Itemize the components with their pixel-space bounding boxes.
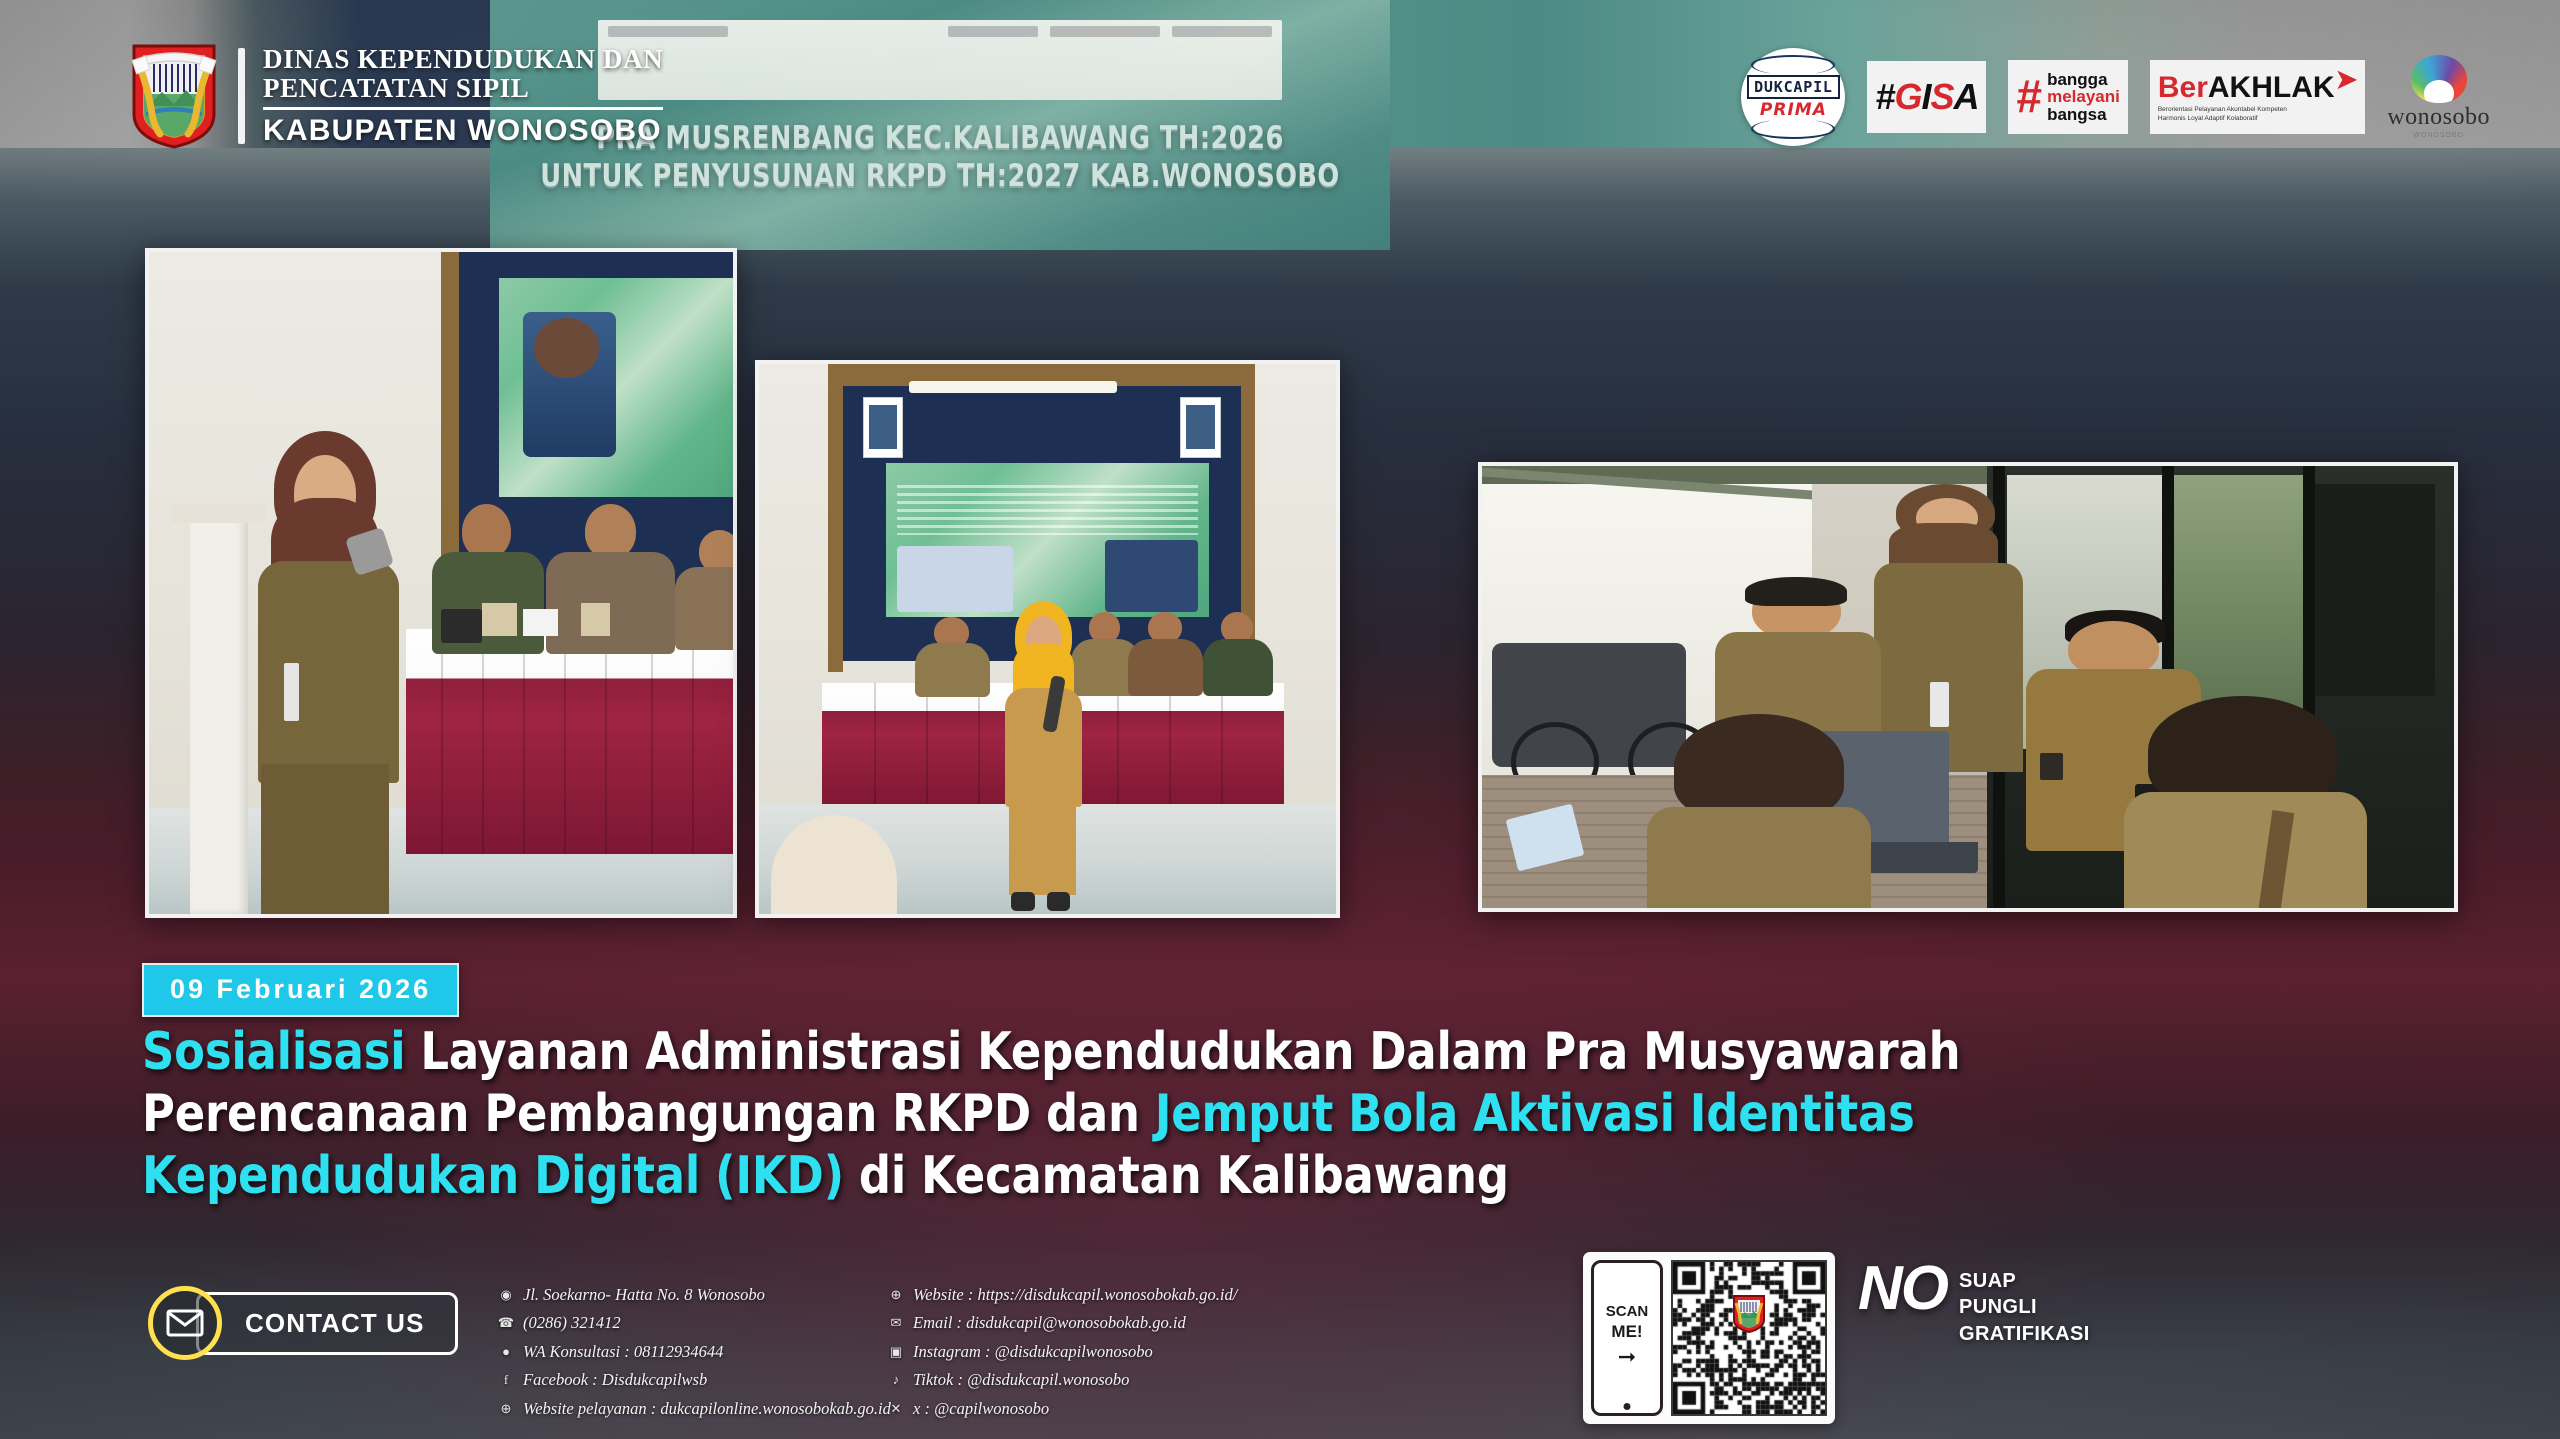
date-badge: 09 Februari 2026 <box>142 963 459 1017</box>
banner-line-2: UNTUK PENYUSUNAN RKPD TH:2027 KAB.WONOSO… <box>526 158 1354 196</box>
scan-me-qr-block[interactable]: SCAN ME! ➞ <box>1583 1252 1835 1424</box>
berakhlak-sub-2: Harmonis Loyal Adaptif Kolaboratif <box>2158 115 2258 123</box>
swoosh-icon: ➤ <box>2336 64 2358 95</box>
arrow-right-icon: ➞ <box>1618 1346 1636 1368</box>
headline-word: Digital <box>534 1146 700 1208</box>
x-twitter-icon: ✕ <box>888 1401 904 1417</box>
photo-ikd-activation-right <box>1478 462 2458 912</box>
envelope-icon <box>148 1286 222 1360</box>
wonosobo-tourism-logo: wonosobo WONOSOBO <box>2387 55 2490 139</box>
contact-line[interactable]: ●WA Konsultasi : 08112934644 <box>498 1338 891 1366</box>
headline-word: Jemput <box>1155 1084 1333 1146</box>
wonosobo-wordmark: wonosobo <box>2387 104 2490 131</box>
page-title: SosialisasiLayananAdministrasiKependuduk… <box>142 1022 2139 1208</box>
pungli-word-2: PUNGLI <box>1959 1294 2090 1320</box>
contact-line[interactable]: ⊕Website : https://disdukcapil.wonosobok… <box>888 1281 1237 1309</box>
headline-word: Kecamatan <box>921 1146 1201 1208</box>
gisa-wordmark: #GISA <box>1875 66 1978 128</box>
bmb-line-3: bangsa <box>2047 106 2120 124</box>
contact-text: x : @capilwonosobo <box>913 1395 1049 1423</box>
partner-logo-strip: DUKCAPIL PRIMA #GISA # bangga melayani b… <box>1741 48 2490 146</box>
contact-line[interactable]: ☎(0286) 321412 <box>498 1309 891 1337</box>
headline-word: Kependudukan <box>142 1146 519 1208</box>
berakhlak-sub-1: Berorientasi Pelayanan Akuntabel Kompete… <box>2158 106 2287 114</box>
headline-word: Pembangungan <box>484 1084 877 1146</box>
brand-text: DINAS KEPENDUDUKAN DAN PENCATATAN SIPIL … <box>263 45 663 147</box>
no-label: NO <box>1858 1262 1947 1315</box>
poster-canvas: PRA MUSRENBANG KEC.KALIBAWANG TH:2026 UN… <box>0 0 2560 1439</box>
brand-line-1: DINAS KEPENDUDUKAN DAN <box>263 45 663 74</box>
globe-icon: ⊕ <box>888 1287 904 1303</box>
headline-word: dan <box>1046 1084 1140 1146</box>
whatsapp-icon: ● <box>498 1344 514 1360</box>
contact-us-button[interactable]: CONTACT US <box>148 1286 458 1360</box>
contact-line[interactable]: ▣Instagram : @disdukcapilwonosobo <box>888 1338 1237 1366</box>
headline-word: RKPD <box>892 1084 1031 1146</box>
contact-text: Facebook : Disdukcapilwsb <box>523 1366 707 1394</box>
contact-line[interactable]: fFacebook : Disdukcapilwsb <box>498 1366 891 1394</box>
berakhlak-akhlak: AKHLAK <box>2208 71 2335 105</box>
contact-text: Email : disdukcapil@wonosobokab.go.id <box>913 1309 1186 1337</box>
photo-speaker-middle <box>755 360 1340 918</box>
headline-word: Perencanaan <box>142 1084 469 1146</box>
wonosobo-tagline: WONOSOBO <box>2413 132 2464 139</box>
brand-header: DINAS KEPENDUDUKAN DAN PENCATATAN SIPIL … <box>128 42 663 150</box>
headline-word: Layanan <box>420 1022 630 1084</box>
tiktok-icon: ♪ <box>888 1372 904 1388</box>
rainbow-mark-icon <box>2411 55 2467 103</box>
headline-word: Pra <box>1543 1022 1628 1084</box>
headline-word: Aktivasi <box>1473 1084 1675 1146</box>
contact-text: Tiktok : @disdukcapil.wonosobo <box>913 1366 1129 1394</box>
headline-word: Administrasi <box>645 1022 962 1084</box>
dukcapil-prima-logo: DUKCAPIL PRIMA <box>1741 48 1845 146</box>
headline-word: Identitas <box>1690 1084 1915 1146</box>
contact-text: Jl. Soekarno- Hatta No. 8 Wonosobo <box>523 1281 765 1309</box>
headline-word: Kalibawang <box>1216 1146 1508 1208</box>
headline-word: di <box>859 1146 906 1208</box>
banner-header-sheet <box>598 20 1282 100</box>
contact-line[interactable]: ◉Jl. Soekarno- Hatta No. 8 Wonosobo <box>498 1281 891 1309</box>
scan-line-2: ME! <box>1611 1323 1642 1340</box>
gisa-logo: #GISA <box>1867 61 1986 133</box>
brand-line-2: PENCATATAN SIPIL <box>263 74 663 103</box>
contact-text: Website : https://disdukcapil.wonosoboka… <box>913 1281 1237 1309</box>
facebook-icon: f <box>498 1372 514 1388</box>
contact-text: WA Konsultasi : 08112934644 <box>523 1338 723 1366</box>
prima-label: PRIMA <box>1760 100 1827 120</box>
bmb-line-2: melayani <box>2047 88 2120 106</box>
qr-center-crest-icon <box>1732 1294 1766 1334</box>
instagram-icon: ▣ <box>888 1344 904 1360</box>
no-pungli-notice: NO SUAP PUNGLI GRATIFIKASI <box>1858 1262 2090 1347</box>
telephone-icon: ☎ <box>498 1316 514 1332</box>
location-pin-icon: ◉ <box>498 1287 514 1303</box>
contact-text: (0286) 321412 <box>523 1309 621 1337</box>
contact-column-1: ◉Jl. Soekarno- Hatta No. 8 Wonosobo☎(028… <box>498 1281 891 1423</box>
headline-word: (IKD) <box>715 1146 844 1208</box>
headline-word: Dalam <box>1369 1022 1528 1084</box>
bmb-line-1: bangga <box>2047 71 2120 89</box>
wonosobo-crest-icon <box>128 42 220 150</box>
contact-text: Instagram : @disdukcapilwonosobo <box>913 1338 1153 1366</box>
qr-code[interactable] <box>1671 1260 1827 1416</box>
photo-speaker-left <box>145 248 737 918</box>
headline-word: Musyawarah <box>1643 1022 1960 1084</box>
headline-word: Kependudukan <box>977 1022 1354 1084</box>
pungli-word-3: GRATIFIKASI <box>1959 1321 2090 1347</box>
bangga-melayani-bangsa-logo: # bangga melayani bangsa <box>2008 60 2127 134</box>
headline-word: Bola <box>1348 1084 1458 1146</box>
pungli-word-1: SUAP <box>1959 1268 2090 1294</box>
brand-rule <box>263 107 663 110</box>
contact-line[interactable]: ⊕Website pelayanan : dukcapilonline.wono… <box>498 1395 891 1423</box>
contact-column-2: ⊕Website : https://disdukcapil.wonosobok… <box>888 1281 1237 1423</box>
contact-line[interactable]: ✉Email : disdukcapil@wonosobokab.go.id <box>888 1309 1237 1337</box>
berakhlak-ber: Ber <box>2158 71 2208 105</box>
contact-line[interactable]: ✕x : @capilwonosobo <box>888 1395 1237 1423</box>
phone-icon: SCAN ME! ➞ <box>1591 1260 1663 1416</box>
contact-text: Website pelayanan : dukcapilonline.wonos… <box>523 1395 891 1423</box>
brand-divider <box>238 48 245 144</box>
dukcapil-label: DUKCAPIL <box>1747 75 1840 99</box>
contact-line[interactable]: ♪Tiktok : @disdukcapil.wonosobo <box>888 1366 1237 1394</box>
email-icon: ✉ <box>888 1316 904 1332</box>
hash-icon: # <box>2016 77 2042 116</box>
contact-us-label: CONTACT US <box>196 1292 458 1355</box>
globe-icon: ⊕ <box>498 1401 514 1417</box>
scan-line-1: SCAN <box>1606 1304 1649 1319</box>
brand-line-3: KABUPATEN WONOSOBO <box>263 115 663 147</box>
berakhlak-logo: Ber AKHLAK ➤ Berorientasi Pelayanan Akun… <box>2150 60 2365 134</box>
headline-word: Sosialisasi <box>142 1022 405 1084</box>
